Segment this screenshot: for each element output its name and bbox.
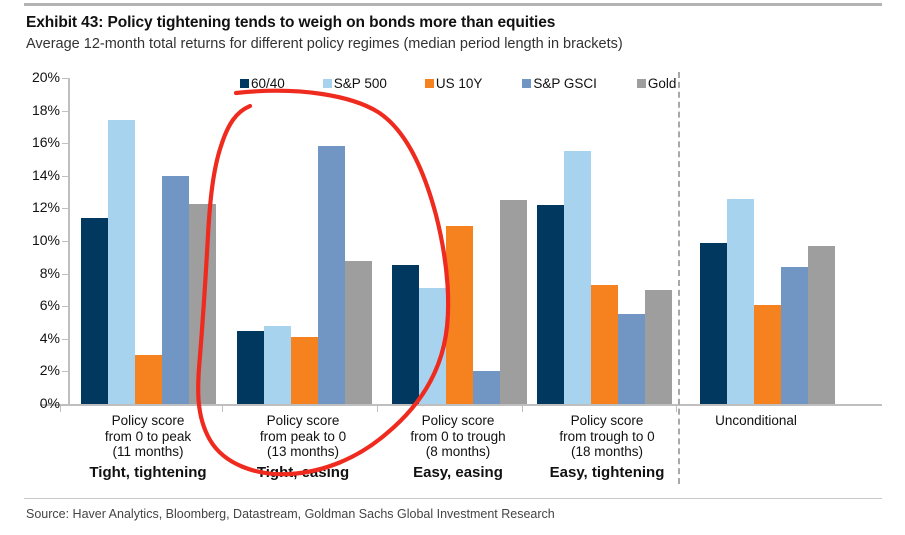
bar (419, 288, 446, 404)
y-tick-mark (62, 78, 69, 79)
y-tick-mark (62, 371, 69, 372)
y-tick-mark (62, 111, 69, 112)
bar (392, 265, 419, 404)
legend-item-s-p-500[interactable]: S&P 500 (323, 76, 387, 91)
y-tick-label: 8% (12, 266, 60, 280)
regime-label: Easy, tightening (507, 465, 707, 481)
bar (473, 371, 500, 404)
legend-swatch-icon (323, 79, 332, 88)
legend-label: Gold (648, 76, 677, 91)
bar (318, 146, 345, 404)
x-axis-line (40, 404, 882, 406)
group-label-line: from trough to 0 (507, 429, 707, 445)
y-tick-mark (62, 274, 69, 275)
legend-label: 60/40 (251, 76, 285, 91)
bar (108, 120, 135, 404)
legend-label: US 10Y (436, 76, 483, 91)
legend-label: S&P GSCI (533, 76, 597, 91)
bar (135, 355, 162, 404)
bar (345, 261, 372, 404)
y-tick-mark (62, 241, 69, 242)
y-tick-label: 2% (12, 363, 60, 377)
group-label-line: Unconditional (656, 413, 856, 429)
bar (446, 226, 473, 404)
group-separator-tick (676, 404, 677, 412)
exhibit-title: Exhibit 43: Policy tightening tends to w… (26, 14, 555, 32)
y-tick-mark (62, 176, 69, 177)
y-tick-label: 6% (12, 298, 60, 312)
legend-item-us-10y[interactable]: US 10Y (425, 76, 483, 91)
y-tick-mark (62, 208, 69, 209)
legend-item-60-40[interactable]: 60/40 (240, 76, 285, 91)
legend-swatch-icon (637, 79, 646, 88)
source-note: Source: Haver Analytics, Bloomberg, Data… (26, 507, 555, 521)
legend-swatch-icon (425, 79, 434, 88)
y-tick-mark (62, 306, 69, 307)
y-tick-mark (62, 339, 69, 340)
group-separator-tick (222, 404, 223, 412)
group-label-4: Unconditional (656, 413, 856, 429)
bar (727, 199, 754, 404)
y-tick-label: 10% (12, 233, 60, 247)
bar (237, 331, 264, 404)
top-divider (24, 3, 882, 6)
bar (537, 205, 564, 404)
bar (291, 337, 318, 404)
legend-swatch-icon (522, 79, 531, 88)
bar (189, 204, 216, 404)
y-tick-label: 20% (12, 70, 60, 84)
y-tick-label: 18% (12, 103, 60, 117)
bar (808, 246, 835, 404)
group-separator-tick (522, 404, 523, 412)
bar (500, 200, 527, 404)
chart-legend: 60/40S&P 500US 10YS&P GSCIGold (240, 76, 676, 91)
group-separator-tick (60, 404, 61, 412)
exhibit-subtitle: Average 12-month total returns for diffe… (26, 36, 623, 52)
legend-item-s-p-gsci[interactable]: S&P GSCI (522, 76, 597, 91)
y-tick-label: 0% (12, 396, 60, 410)
group-label-line: (18 months) (507, 444, 707, 460)
bar (700, 243, 727, 404)
y-tick-label: 12% (12, 200, 60, 214)
y-tick-mark (62, 143, 69, 144)
bar (564, 151, 591, 404)
y-tick-label: 4% (12, 331, 60, 345)
bar (618, 314, 645, 404)
bar (81, 218, 108, 404)
bar (162, 176, 189, 404)
bar (754, 305, 781, 404)
legend-label: S&P 500 (334, 76, 387, 91)
bar (591, 285, 618, 404)
unconditional-divider (678, 72, 680, 484)
y-tick-label: 16% (12, 135, 60, 149)
legend-swatch-icon (240, 79, 249, 88)
group-separator-tick (377, 404, 378, 412)
y-tick-label: 14% (12, 168, 60, 182)
bar (781, 267, 808, 404)
bar (645, 290, 672, 404)
legend-item-gold[interactable]: Gold (637, 76, 677, 91)
bottom-divider (24, 498, 882, 499)
bar (264, 326, 291, 404)
y-tick-mark (62, 404, 69, 405)
